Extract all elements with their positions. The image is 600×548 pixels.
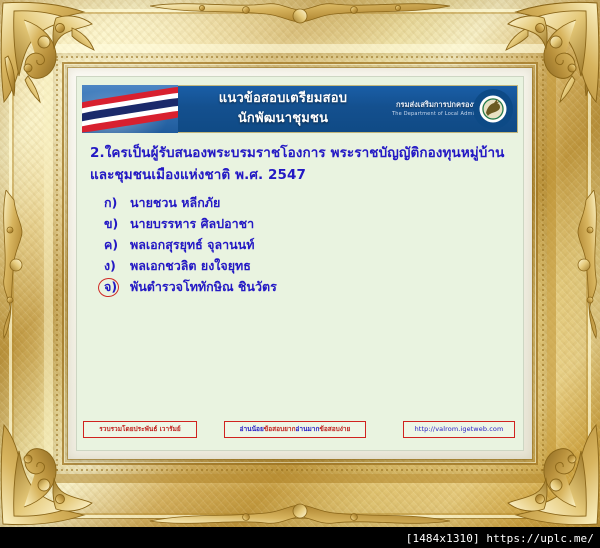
frame-edge-ornament-icon [150, 487, 450, 531]
footer-url-box[interactable]: http://valrom.igetweb.com [403, 421, 515, 438]
choice-key: ง) [102, 256, 130, 276]
motto-part-4: ข้อสอบง่าย [319, 426, 350, 433]
choice-key: ก) [102, 193, 130, 213]
question-text: 2.ใครเป็นผู้รับสนองพระบรมราชโองการ พระรา… [90, 142, 510, 186]
image-dimensions-watermark: [1484x1310] https://uplc.me/ [406, 532, 594, 545]
motto-part-3: อ่านมาก [296, 426, 320, 433]
thai-flag-icon [82, 85, 178, 133]
choice-key-circled-answer-marker: จ) [102, 277, 130, 297]
choice-text: พลเอกชวลิต ยงใจยุทธ [130, 256, 502, 276]
gold-picture-frame: แนวข้อสอบเตรียมสอบ นักพัฒนาชุมชน กรมส่งเ… [0, 0, 600, 527]
choice-text: พันตำรวจโททักษิณ ชินวัตร [130, 277, 502, 297]
motto-part-2: ข้อสอบยาก [264, 426, 296, 433]
frame-edge-ornament-icon [150, 0, 450, 40]
page-root: แนวข้อสอบเตรียมสอบ นักพัฒนาชุมชน กรมส่งเ… [0, 0, 600, 548]
choice-key: ข) [102, 214, 130, 234]
choice-key: ค) [102, 235, 130, 255]
slide-footer: รวบรวมโดยประพันธ์ เวารัมย์ อ่านน้อยข้อสอ… [82, 421, 518, 437]
frame-edge-ornament-icon [560, 190, 600, 340]
choice-text: นายชวน หลีกภัย [130, 193, 502, 213]
answer-choice-c[interactable]: ค) พลเอกสุรยุทธ์ จุลานนท์ [102, 234, 502, 255]
choice-text: นายบรรหาร ศิลปอาชา [130, 214, 502, 234]
footer-credit-box: รวบรวมโดยประพันธ์ เวารัมย์ [83, 421, 197, 438]
banner-title-line2: นักพัฒนาชุมชน [178, 109, 388, 129]
answer-choice-a[interactable]: ก) นายชวน หลีกภัย [102, 192, 502, 213]
motto-part-1: อ่านน้อย [240, 426, 264, 433]
choice-text: พลเอกสุรยุทธ์ จุลานนท์ [130, 235, 502, 255]
footer-motto-box: อ่านน้อยข้อสอบยาก อ่านมากข้อสอบง่าย [224, 421, 366, 438]
banner-title: แนวข้อสอบเตรียมสอบ นักพัฒนาชุมชน [178, 88, 388, 129]
answer-choice-b[interactable]: ข) นายบรรหาร ศิลปอาชา [102, 213, 502, 234]
exam-slide: แนวข้อสอบเตรียมสอบ นักพัฒนาชุมชน กรมส่งเ… [76, 76, 524, 451]
banner-title-line1: แนวข้อสอบเตรียมสอบ [178, 88, 388, 109]
frame-mat: แนวข้อสอบเตรียมสอบ นักพัฒนาชุมชน กรมส่งเ… [68, 68, 532, 459]
answer-choice-d[interactable]: ง) พลเอกชวลิต ยงใจยุทธ [102, 255, 502, 276]
frame-edge-ornament-icon [0, 190, 40, 340]
answer-choice-e-selected[interactable]: จ) พันตำรวจโททักษิณ ชินวัตร [102, 276, 502, 297]
viewer-bottom-bar: [1484x1310] https://uplc.me/ [0, 527, 600, 548]
answer-choice-list: ก) นายชวน หลีกภัย ข) นายบรรหาร ศิลปอาชา … [102, 192, 502, 297]
slide-header-banner: แนวข้อสอบเตรียมสอบ นักพัฒนาชุมชน กรมส่งเ… [82, 85, 518, 133]
department-emblem-icon [472, 88, 514, 130]
